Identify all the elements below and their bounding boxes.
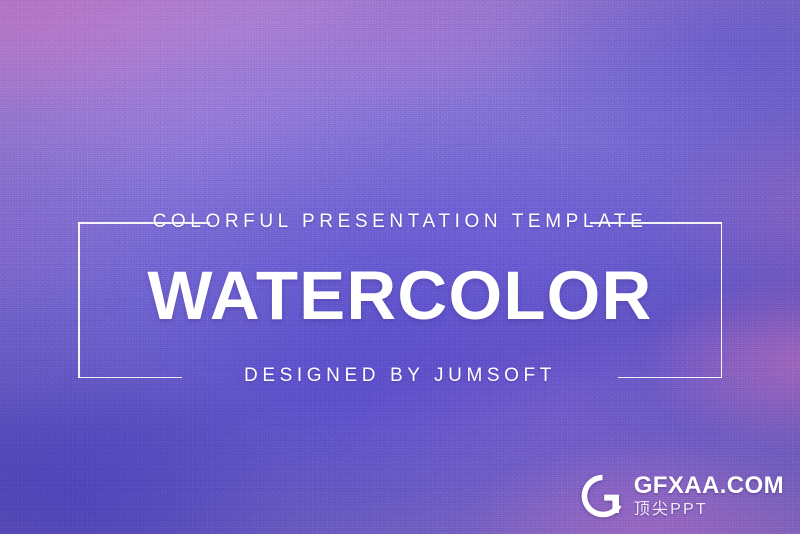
page-title: WATERCOLOR (0, 258, 800, 334)
gfxaa-g-logo-icon (579, 472, 627, 520)
eyebrow-text: COLORFUL PRESENTATION TEMPLATE (0, 210, 800, 234)
watermark: GFXAA.COM 顶尖PPT (579, 472, 784, 520)
watermark-domain: GFXAA.COM (634, 474, 784, 498)
watermark-subtitle: 顶尖PPT (634, 502, 784, 518)
watercolor-template-poster: COLORFUL PRESENTATION TEMPLATE WATERCOLO… (0, 0, 800, 534)
byline-text: DESIGNED BY JUMSOFT (0, 364, 800, 388)
watermark-text-block: GFXAA.COM 顶尖PPT (634, 474, 784, 518)
